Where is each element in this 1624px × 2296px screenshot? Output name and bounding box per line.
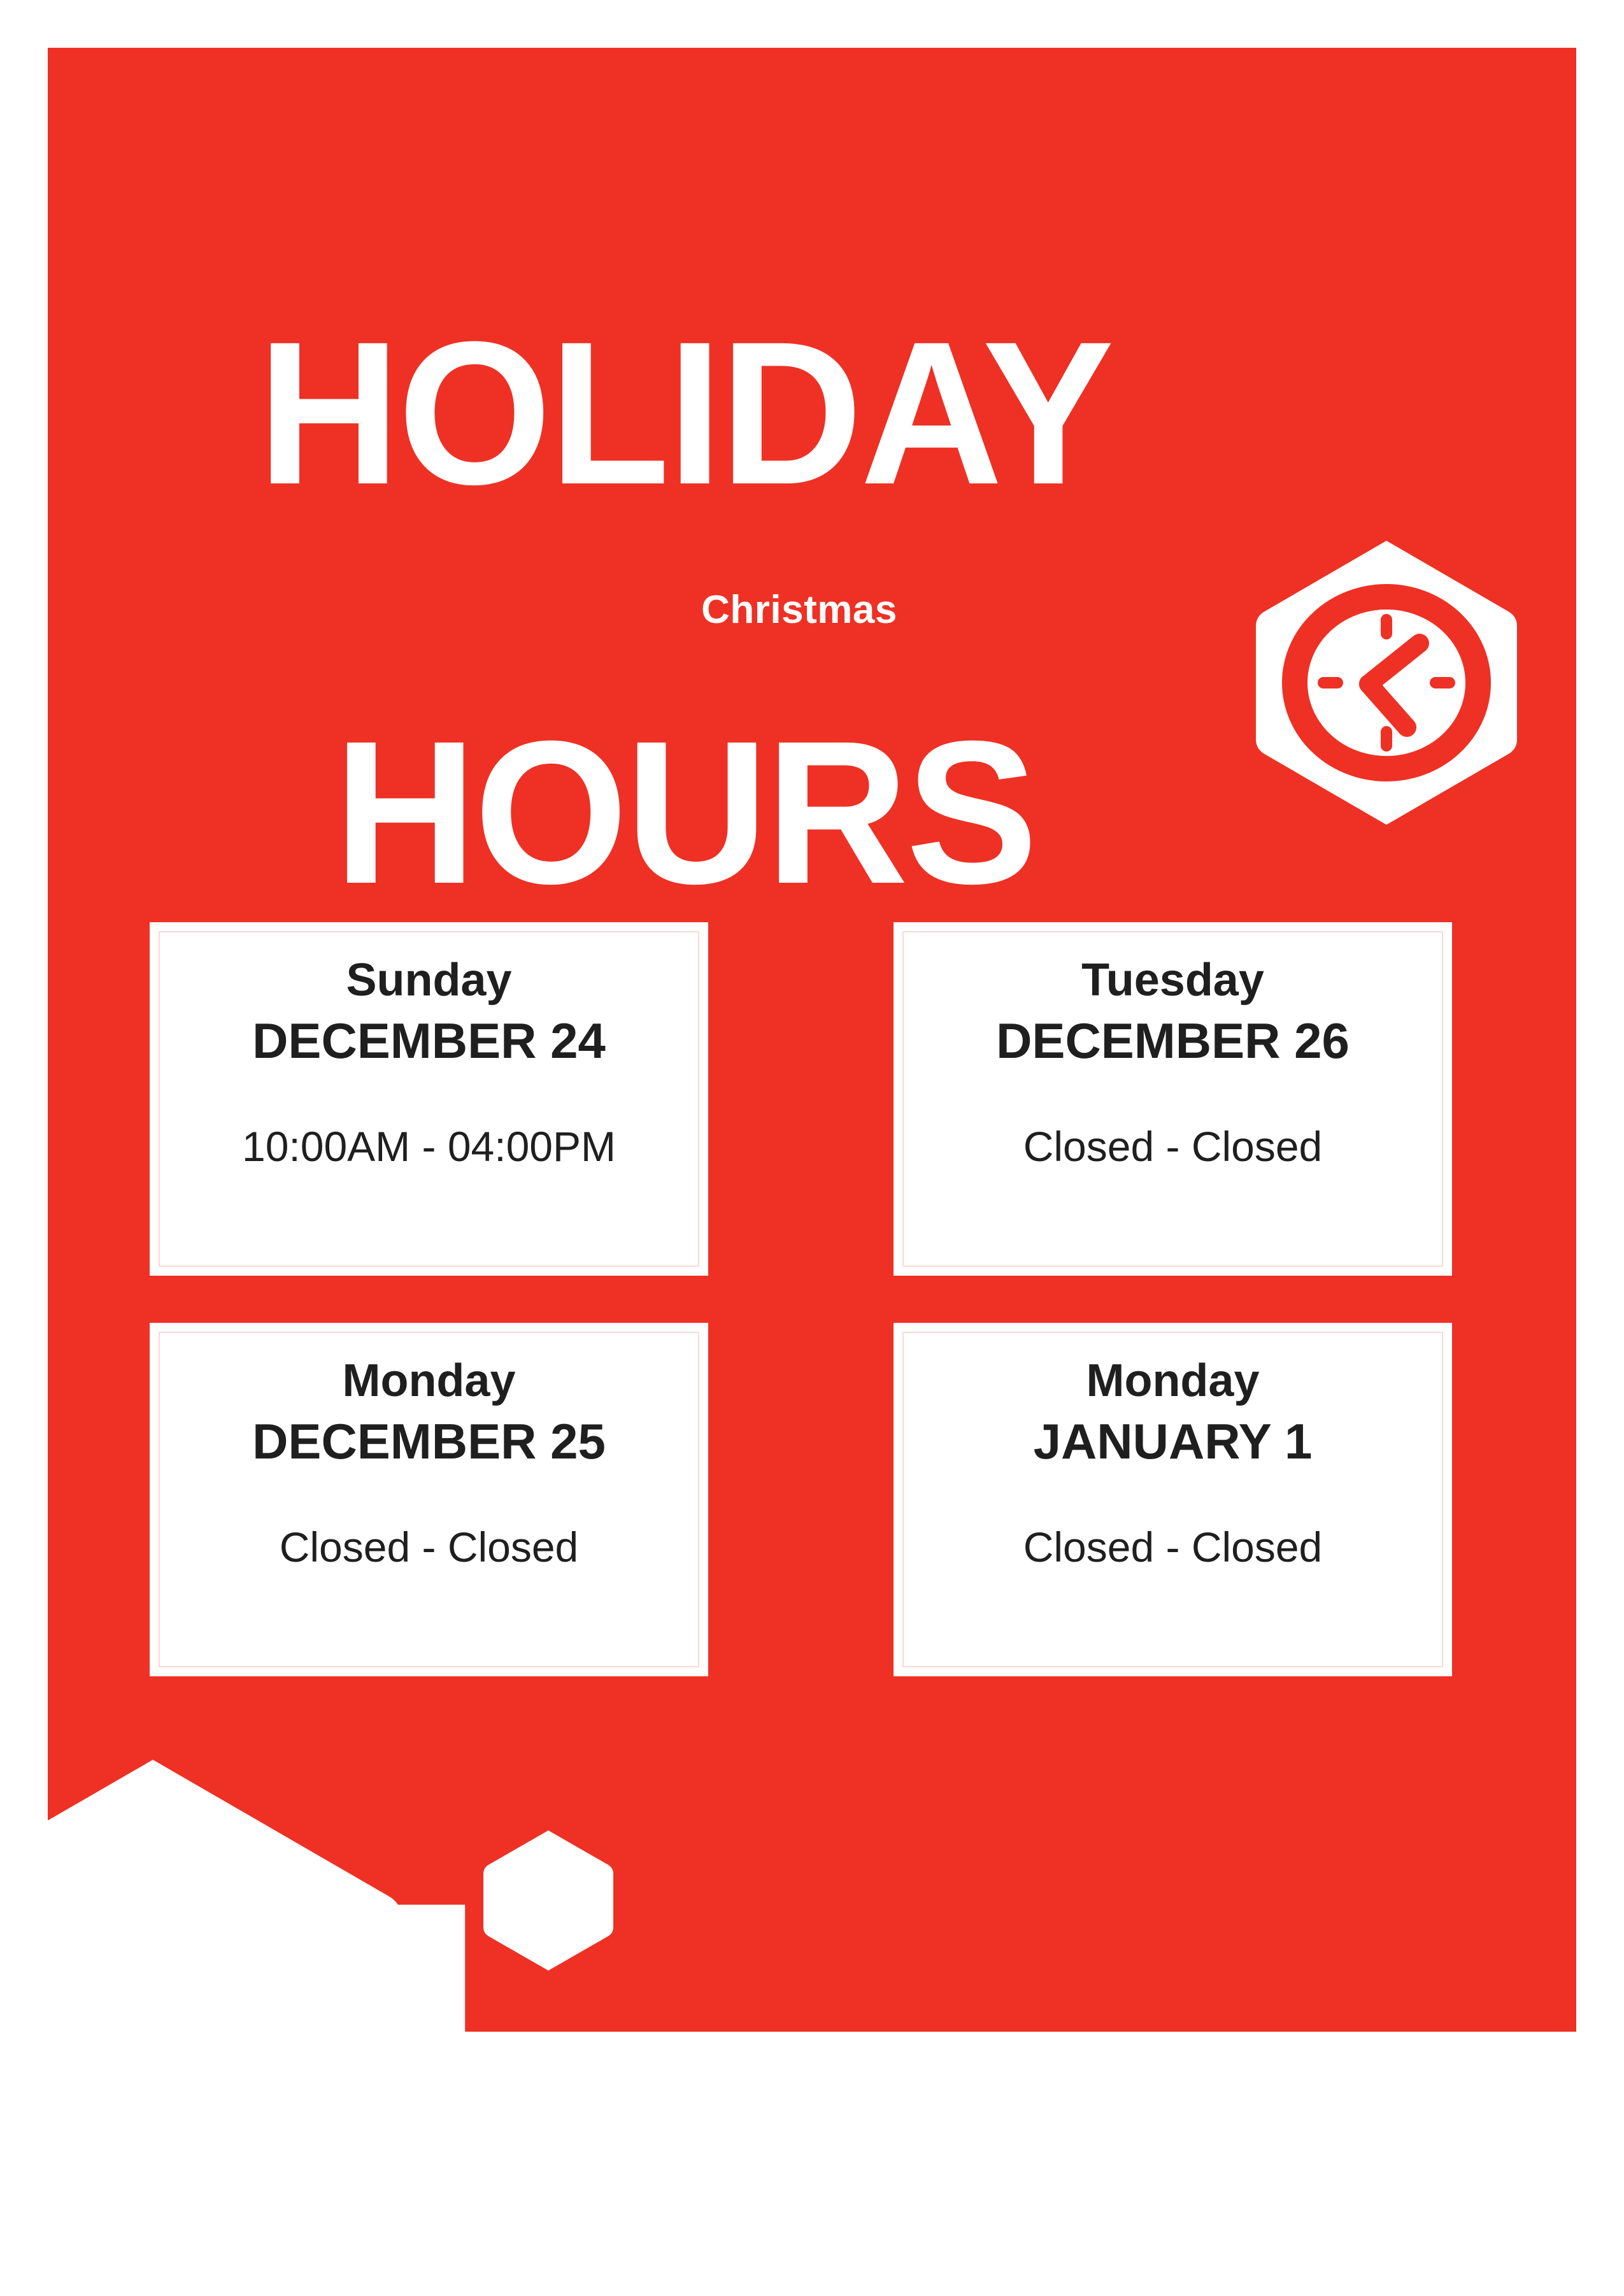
schedule-date: DECEMBER 26 [996,1015,1350,1067]
hexagon-icon [1250,537,1523,829]
schedule-weekday: Sunday [346,957,511,1005]
schedule-hours: Closed - Closed [1023,1526,1323,1568]
schedule-card-inner: Tuesday DECEMBER 26 Closed - Closed [902,931,1443,1267]
decorative-hexagon-small [481,1828,616,1973]
schedule-weekday: Monday [342,1357,515,1406]
schedule-card[interactable]: Monday JANUARY 1 Closed - Closed [894,1323,1452,1676]
schedule-date: DECEMBER 24 [252,1015,606,1067]
schedule-weekday: Tuesday [1081,957,1264,1005]
schedule-hours: Closed - Closed [280,1526,579,1568]
schedule-hours: Closed - Closed [1023,1125,1323,1167]
schedule-date: JANUARY 1 [1034,1416,1313,1468]
schedule-hours: 10:00AM - 04:00PM [242,1125,616,1167]
hexagon-icon [0,1755,408,2296]
schedule-grid: Sunday DECEMBER 24 10:00AM - 04:00PM Tue… [150,922,1452,1629]
schedule-date: DECEMBER 25 [252,1416,606,1468]
schedule-weekday: Monday [1086,1357,1259,1406]
page-title-line-1: HOLIDAY [67,313,1302,513]
schedule-card[interactable]: Sunday DECEMBER 24 10:00AM - 04:00PM [150,922,708,1276]
decorative-hexagon-large [0,1755,408,2296]
hexagon-icon [481,1828,616,1973]
page-title-line-2: HOURS [67,713,1302,913]
holiday-hours-poster: HOLIDAY HOURS Christmas Sund [0,0,1624,2102]
schedule-card[interactable]: Monday DECEMBER 25 Closed - Closed [150,1323,708,1676]
schedule-card-inner: Monday DECEMBER 25 Closed - Closed [159,1332,699,1667]
schedule-card[interactable]: Tuesday DECEMBER 26 Closed - Closed [894,922,1452,1276]
schedule-card-inner: Monday JANUARY 1 Closed - Closed [902,1332,1443,1667]
schedule-card-inner: Sunday DECEMBER 24 10:00AM - 04:00PM [159,931,699,1267]
clock-badge [1250,537,1523,829]
